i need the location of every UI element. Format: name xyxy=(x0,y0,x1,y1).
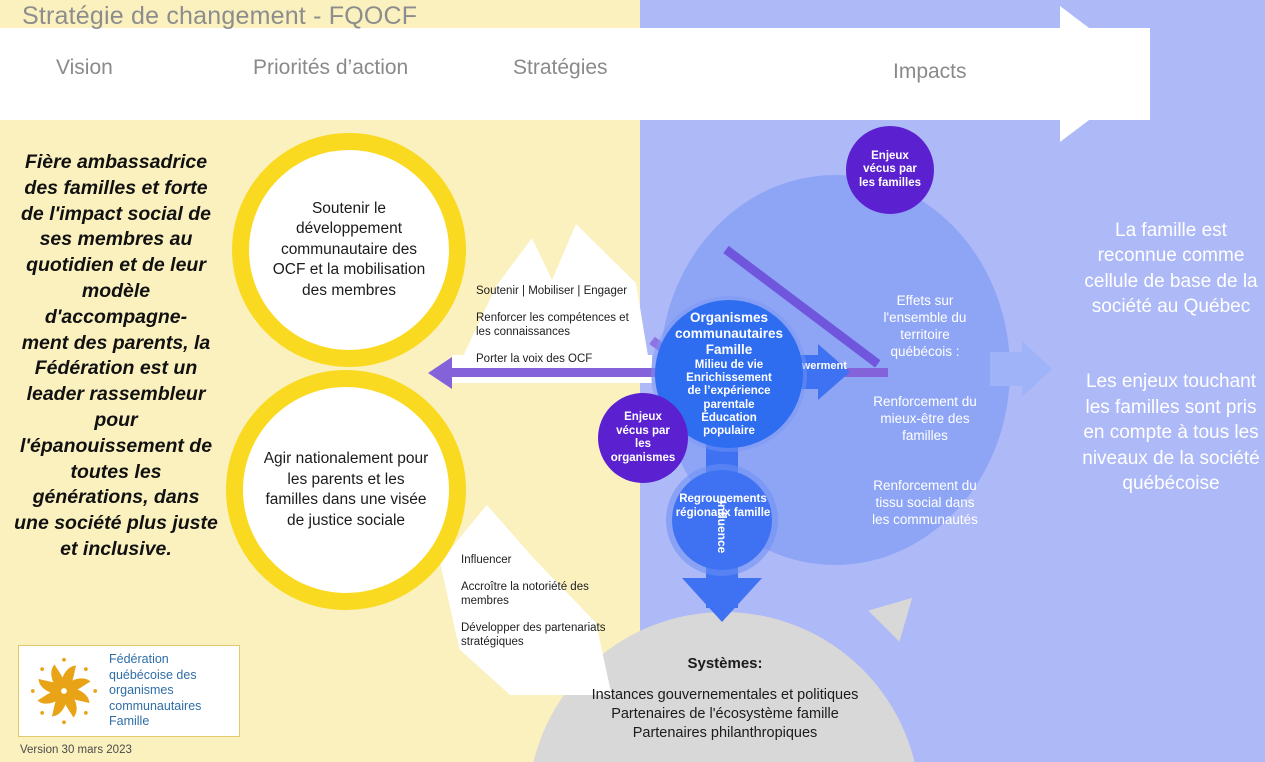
phase-label-impacts: Impacts xyxy=(893,60,967,84)
sun-burst-logo-icon xyxy=(25,652,103,730)
vision-statement: Fière ambassadrice des familles et forte… xyxy=(14,150,218,563)
systems-title: Systèmes: xyxy=(530,655,920,672)
impacts-heading: Effets sur l'ensemble du territoire québ… xyxy=(840,292,1010,360)
phase-label-vision: Vision xyxy=(56,56,113,80)
priority-circle-1: Soutenir le développement communautaire … xyxy=(232,133,466,367)
strategy-item: Porter la voix des OCF xyxy=(476,352,636,366)
issues-organizations-circle: Enjeux vécus par les organismes xyxy=(598,393,688,483)
strategy-item: Renforcer les compétences et les connais… xyxy=(476,311,636,339)
strategy-item: Influencer xyxy=(461,553,621,567)
priority-circle-2: Agir nationalement pour les parents et l… xyxy=(226,370,466,610)
impacts-item: Renforcement du mieux-être des familles xyxy=(840,393,1010,444)
priority-circle-2-text: Agir nationalement pour les parents et l… xyxy=(243,449,449,531)
impacts-item: Renforcement du tissu social dans les co… xyxy=(840,477,1010,528)
systems-text-group: Systèmes: Instances gouvernementales et … xyxy=(530,655,920,743)
organization-name: Fédération québécoise des organismes com… xyxy=(109,652,201,730)
influence-arrow-head xyxy=(682,578,762,622)
header-phase-arrow-head xyxy=(1060,6,1150,142)
phase-label-strategies: Stratégies xyxy=(513,56,608,80)
outcomes-group: La famille est reconnue comme cellule de… xyxy=(1082,192,1260,546)
issues-families-label: Enjeux vécus par les familles xyxy=(859,150,921,191)
version-label: Version 30 mars 2023 xyxy=(20,744,132,756)
issues-organizations-label: Enjeux vécus par les organismes xyxy=(611,411,676,465)
strategy-item: Développer des partenariats stratégiques xyxy=(461,621,621,649)
central-circle-subtitle: Milieu de vie Enrichissement de l’expéri… xyxy=(675,359,783,438)
outcome-item: Les enjeux touchant les familles sont pr… xyxy=(1082,369,1260,497)
phase-label-priorites: Priorités d’action xyxy=(253,56,408,80)
organization-logo-card: Fédération québécoise des organismes com… xyxy=(18,645,240,737)
impacts-text-group: Effets sur l'ensemble du territoire québ… xyxy=(840,275,1010,561)
strategy-list-top: Soutenir | Mobiliser | Engager Renforcer… xyxy=(476,284,636,379)
infographic-canvas: Stratégie de changement - FQOCF Vision P… xyxy=(0,0,1265,762)
outcome-item: La famille est reconnue comme cellule de… xyxy=(1082,218,1260,320)
influence-label: Influence xyxy=(715,497,729,557)
strategy-item: Soutenir | Mobiliser | Engager xyxy=(476,284,636,298)
impacts-arrow-head xyxy=(1022,341,1052,397)
central-circle-title: Organismes communautaires Famille xyxy=(675,310,783,358)
page-title: Stratégie de changement - FQOCF xyxy=(22,2,417,31)
strategy-list-bottom: Influencer Accroître la notoriété des me… xyxy=(461,553,621,662)
feedback-arrow-head xyxy=(428,357,452,389)
strategy-item: Accroître la notoriété des membres xyxy=(461,580,621,608)
systems-lines: Instances gouvernementales et politiques… xyxy=(530,686,920,743)
priority-circle-1-text: Soutenir le développement communautaire … xyxy=(249,199,449,302)
issues-families-circle: Enjeux vécus par les familles xyxy=(846,126,934,214)
